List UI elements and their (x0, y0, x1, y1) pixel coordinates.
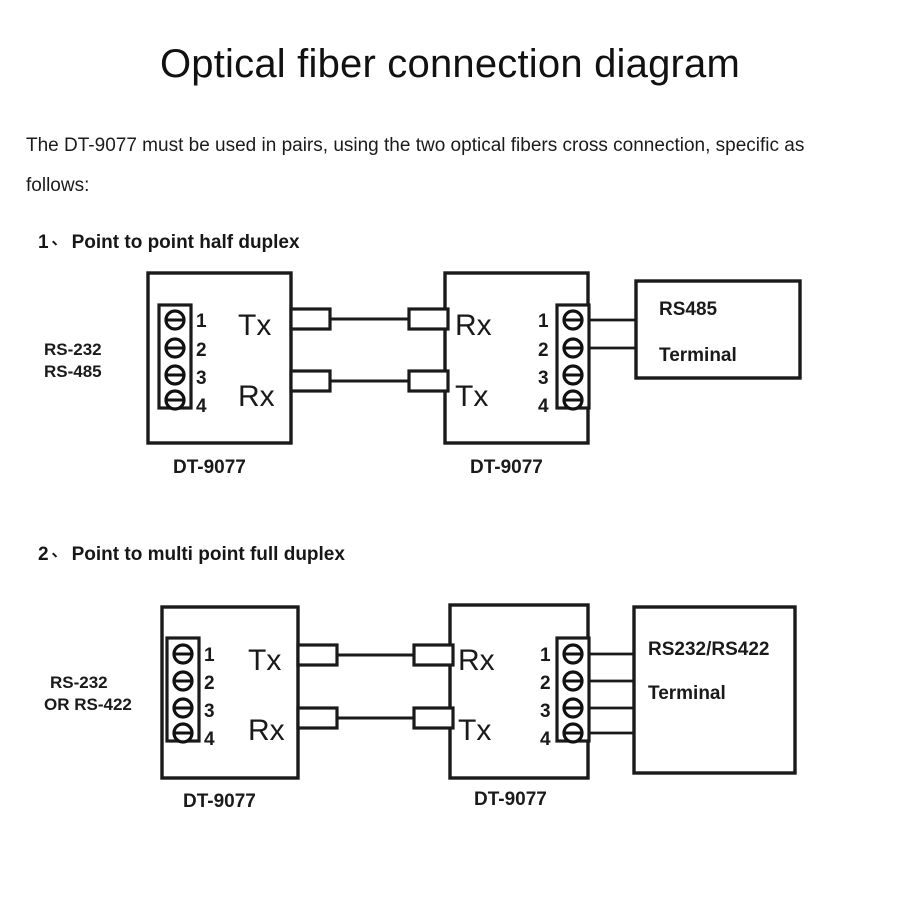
diagram-1-left-port-rx: Rx (238, 380, 275, 413)
diagram-2-right-pin-4: 4 (540, 729, 551, 750)
screw-terminal-icon (564, 366, 582, 384)
diagram-1-right-pin-2: 2 (538, 340, 549, 361)
screw-terminal-icon (166, 339, 184, 357)
diagram-2-left-pin-4: 4 (204, 729, 215, 750)
diagram-1-fiber-connector-left-tx (291, 309, 330, 329)
diagram-2-left-pin-1: 1 (204, 645, 215, 666)
diagram-1-left-pin-4: 4 (196, 396, 207, 417)
screw-terminal-icon (564, 311, 582, 329)
diagram-1-left-device-caption: DT-9077 (173, 457, 246, 478)
diagram-2-left-interface-label-line2: OR RS-422 (44, 695, 132, 714)
diagram-1-right-port-tx: Tx (455, 380, 488, 413)
screw-terminal-icon (174, 724, 192, 742)
section-2-heading: 2、Point to multi point full duplex (38, 544, 345, 566)
section-2-number: 2 (38, 544, 49, 565)
diagram-2-right-device-caption: DT-9077 (474, 789, 547, 810)
diagram-2-group: 1 2 3 4 Tx Rx RS-232 OR RS-422 DT-9077 R… (44, 605, 795, 812)
diagram-1-right-port-rx: Rx (455, 309, 492, 342)
screw-terminal-icon (564, 724, 582, 742)
diagram-2-left-device-caption: DT-9077 (183, 791, 256, 812)
diagram-2-left-pin-3: 3 (204, 701, 215, 722)
section-2-title: Point to multi point full duplex (72, 544, 345, 565)
diagram-2-left-pin-2: 2 (204, 673, 215, 694)
screw-terminal-icon (564, 339, 582, 357)
diagram-2-left-interface-label-line1: RS-232 (50, 673, 108, 692)
diagram-2-terminal-box-label-line2: Terminal (648, 683, 726, 704)
diagram-1-group: 1 2 3 4 Tx Rx RS-232 RS-485 DT-9077 Rx T… (44, 273, 800, 478)
section-1-heading: 1、Point to point half duplex (38, 232, 300, 254)
screw-terminal-icon (166, 366, 184, 384)
diagram-1-right-device-caption: DT-9077 (470, 457, 543, 478)
diagram-1-right-pin-4: 4 (538, 396, 549, 417)
screw-terminal-icon (166, 391, 184, 409)
diagram-2-right-port-rx: Rx (458, 644, 495, 677)
diagram-2-fiber-connector-right-tx (414, 708, 453, 728)
screw-terminal-icon (174, 645, 192, 663)
screw-terminal-icon (564, 391, 582, 409)
diagram-1-fiber-connector-right-tx (409, 371, 448, 391)
section-1-title: Point to point half duplex (72, 232, 300, 253)
diagram-1-terminal-box-label-line2: Terminal (659, 345, 737, 366)
section-1-number: 1 (38, 232, 49, 253)
section-2-separator: 、 (52, 543, 67, 560)
diagram-1-left-interface-label-line2: RS-485 (44, 362, 102, 381)
screw-terminal-icon (174, 672, 192, 690)
diagram-2-right-pin-3: 3 (540, 701, 551, 722)
diagram-1-fiber-connector-left-rx (291, 371, 330, 391)
diagram-2-left-port-tx: Tx (248, 644, 281, 677)
diagram-1-left-pin-1: 1 (196, 311, 207, 332)
diagram-1-left-port-tx: Tx (238, 309, 271, 342)
screw-terminal-icon (564, 672, 582, 690)
diagram-1-right-pin-3: 3 (538, 368, 549, 389)
diagram-2-right-port-tx: Tx (458, 714, 491, 747)
screw-terminal-icon (174, 699, 192, 717)
diagram-2-right-pin-1: 1 (540, 645, 551, 666)
screw-terminal-icon (166, 311, 184, 329)
diagram-2-terminal-box-label-line1: RS232/RS422 (648, 639, 769, 660)
diagram-2-right-pin-2: 2 (540, 673, 551, 694)
section-1-separator: 、 (52, 231, 67, 248)
diagram-2-fiber-connector-left-rx (298, 708, 337, 728)
diagram-1-left-pin-3: 3 (196, 368, 207, 389)
diagram-2-left-port-rx: Rx (248, 714, 285, 747)
diagram-2-fiber-connector-right-rx (414, 645, 453, 665)
diagram-1-terminal-box-label-line1: RS485 (659, 299, 718, 320)
diagram-2-fiber-connector-left-tx (298, 645, 337, 665)
screw-terminal-icon (564, 645, 582, 663)
page-title: Optical fiber connection diagram (0, 42, 900, 87)
screw-terminal-icon (564, 699, 582, 717)
diagram-1-right-pin-1: 1 (538, 311, 549, 332)
intro-paragraph: The DT-9077 must be used in pairs, using… (26, 126, 826, 206)
diagram-1-left-pin-2: 2 (196, 340, 207, 361)
diagram-1-fiber-connector-right-rx (409, 309, 448, 329)
diagram-1-left-interface-label-line1: RS-232 (44, 340, 102, 359)
diagram-page: Optical fiber connection diagram The DT-… (0, 0, 900, 900)
